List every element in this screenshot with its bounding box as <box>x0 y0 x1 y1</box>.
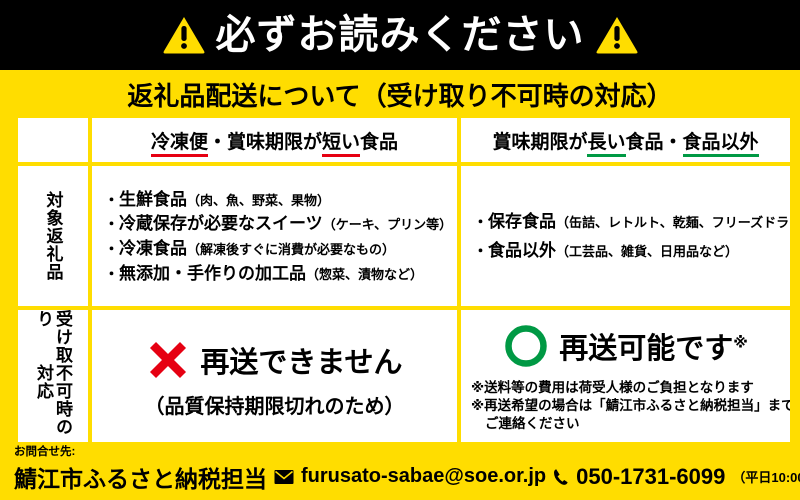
circle-mark-icon <box>503 323 549 369</box>
column-header-short: 冷凍便・賞味期限が短い食品 <box>92 118 457 162</box>
list-item: ・冷蔵保存が必要なスイーツ（ケーキ、プリン等） <box>104 215 451 234</box>
list-item: ・食品以外（工芸品、雑貨、日用品など） <box>473 242 784 261</box>
x-mark-icon <box>146 338 190 382</box>
row-label-line: 受け取り <box>34 310 72 364</box>
row-label-undeliverable-response: 受け取り 不可時の対応 <box>18 310 88 446</box>
note-line: ※送料等の費用は荷受人様のご負担となります <box>471 379 780 397</box>
list-item-sub: （ケーキ、プリン等） <box>323 217 452 232</box>
row-label-target-items: 対象返礼品 <box>18 166 88 306</box>
page-title: 必ずお読みください <box>216 15 585 55</box>
result-asterisk: ※ <box>733 335 748 352</box>
list-item: ・生鮮食品（肉、魚、野菜、果物） <box>104 191 451 210</box>
header-banner: 必ずお読みください <box>0 0 800 70</box>
header-part: 短い <box>322 132 360 157</box>
note-line: ご連絡ください <box>471 415 780 433</box>
result-text: 再送できません <box>200 339 402 381</box>
info-table: 冷凍便・賞味期限が短い食品 賞味期限が長い食品・食品以外 対象返礼品 ・生鮮食品… <box>18 118 782 438</box>
contact-department: 鯖江市ふるさと納税担当 <box>14 460 267 494</box>
header-part: ・賞味期限が <box>208 132 322 153</box>
result-text-main: 再送可能です <box>559 333 733 365</box>
response-short-cell: 再送できません （品質保持期限切れのため） <box>92 310 457 446</box>
column-header-long-text: 賞味期限が長い食品・食品以外 <box>492 127 758 154</box>
row-label-line: 不可時の対応 <box>34 364 72 446</box>
envelope-icon <box>274 469 294 485</box>
target-items-short-cell: ・生鮮食品（肉、魚、野菜、果物） ・冷蔵保存が必要なスイーツ（ケーキ、プリン等）… <box>92 166 457 306</box>
header-part: 食品・ <box>626 132 683 153</box>
bullet-list-long: ・保存食品（缶詰、レトルト、乾麺、フリーズドライ） ・食品以外（工芸品、雑貨、日… <box>461 166 790 306</box>
phone-icon <box>553 468 569 486</box>
result-no-resend: 再送できません （品質保持期限切れのため） <box>92 310 457 446</box>
list-item-main: 生鮮食品 <box>119 190 187 209</box>
list-item-main: 無添加・手作りの加工品 <box>119 264 306 283</box>
contact-email[interactable]: furusato-sabae@soe.or.jp <box>301 465 546 488</box>
list-item: ・無添加・手作りの加工品（惣菜、漬物など） <box>104 265 451 284</box>
contact-footer: お問合せ先: 鯖江市ふるさと納税担当 furusato-sabae@soe.or… <box>0 442 800 500</box>
list-item-sub: （解凍後すぐに消費が必要なもの） <box>187 242 395 257</box>
header-part: 長い <box>587 132 625 157</box>
subtitle-band: 返礼品配送について（受け取り不可時の対応） <box>0 70 800 118</box>
note-line: ※再送希望の場合は「鯖江市ふるさと納税担当」まで <box>471 397 780 415</box>
contact-hours: （平日10:00-17:00対応） <box>732 467 800 486</box>
header-part: 食品 <box>360 132 398 153</box>
warning-triangle-icon <box>595 15 639 55</box>
list-item: ・冷凍食品（解凍後すぐに消費が必要なもの） <box>104 240 451 259</box>
list-item-main: 保存食品 <box>488 212 556 231</box>
result-text: 再送可能です※ <box>559 325 748 367</box>
list-item-main: 食品以外 <box>488 241 556 260</box>
poster-root: 必ずお読みください 返礼品配送について（受け取り不可時の対応） 冷凍便・賞味期限… <box>0 0 800 500</box>
list-item-main: 冷蔵保存が必要なスイーツ <box>119 214 323 233</box>
list-item-sub: （工芸品、雑貨、日用品など） <box>556 244 738 259</box>
list-item-sub: （惣菜、漬物など） <box>306 267 423 282</box>
header-part: 食品以外 <box>683 132 759 157</box>
subtitle-text: 返礼品配送について（受け取り不可時の対応） <box>127 76 672 113</box>
header-part: 冷凍便 <box>151 132 208 157</box>
bullet-list-short: ・生鮮食品（肉、魚、野菜、果物） ・冷蔵保存が必要なスイーツ（ケーキ、プリン等）… <box>92 166 457 306</box>
list-item: ・保存食品（缶詰、レトルト、乾麺、フリーズドライ） <box>473 213 784 232</box>
result-subtext: （品質保持期限切れのため） <box>145 390 405 419</box>
resend-notes: ※送料等の費用は荷受人様のご負担となります ※再送希望の場合は「鯖江市ふるさと納… <box>471 379 780 432</box>
header-part: 賞味期限が <box>492 132 587 153</box>
target-items-long-cell: ・保存食品（缶詰、レトルト、乾麺、フリーズドライ） ・食品以外（工芸品、雑貨、日… <box>461 166 790 306</box>
contact-label: お問合せ先: <box>14 446 800 459</box>
list-item-sub: （缶詰、レトルト、乾麺、フリーズドライ） <box>556 215 790 230</box>
list-item-main: 冷凍食品 <box>119 239 187 258</box>
contact-phone[interactable]: 050-1731-6099 <box>576 464 725 490</box>
note-line-cont: ご連絡ください <box>471 415 580 433</box>
column-header-short-text: 冷凍便・賞味期限が短い食品 <box>151 127 398 154</box>
response-long-cell: 再送可能です※ ※送料等の費用は荷受人様のご負担となります ※再送希望の場合は「… <box>461 310 790 446</box>
column-header-long: 賞味期限が長い食品・食品以外 <box>461 118 790 162</box>
list-item-sub: （肉、魚、野菜、果物） <box>187 193 330 208</box>
result-resend-ok: 再送可能です※ ※送料等の費用は荷受人様のご負担となります ※再送希望の場合は「… <box>461 310 790 446</box>
table-corner-cell <box>18 118 88 162</box>
warning-triangle-icon <box>162 15 206 55</box>
